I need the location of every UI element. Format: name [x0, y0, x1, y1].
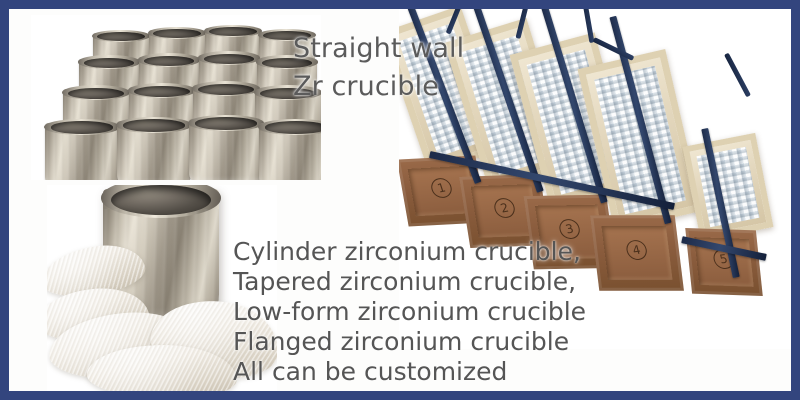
- banner-inner-canvas: 1 2 3: [9, 9, 791, 391]
- crate-number-badge: 2: [492, 197, 517, 220]
- crate-4-face: 4: [590, 215, 684, 290]
- strap-tail: [724, 53, 751, 98]
- crucible-grid: [31, 15, 321, 180]
- product-banner: 1 2 3: [0, 0, 800, 400]
- bubble-wrap-block: [697, 147, 760, 227]
- crucible-unit: [189, 119, 263, 180]
- spec-list: Cylinder zirconium crucible, Tapered zir…: [233, 237, 586, 387]
- headline-line-1: Straight wall: [293, 30, 464, 68]
- headline-text: Straight wall Zr crucible: [293, 30, 464, 106]
- crate-front-face: 4: [590, 215, 684, 290]
- crucible-unit: [117, 121, 191, 180]
- spec-line-2: Tapered zirconium crucible,: [233, 267, 586, 297]
- crate-number-badge: 4: [624, 239, 649, 261]
- headline-line-2: Zr crucible: [293, 68, 464, 106]
- crucible-unit: [259, 123, 321, 180]
- spec-line-5: All can be customized: [233, 357, 586, 387]
- spec-line-1: Cylinder zirconium crucible,: [233, 237, 586, 267]
- crucible-array-photo: [31, 15, 321, 180]
- spec-line-3: Low-form zirconium crucible: [233, 297, 586, 327]
- crate-number-badge: 1: [429, 177, 455, 200]
- spec-line-4: Flanged zirconium crucible: [233, 327, 586, 357]
- crucible-unit: [45, 123, 119, 180]
